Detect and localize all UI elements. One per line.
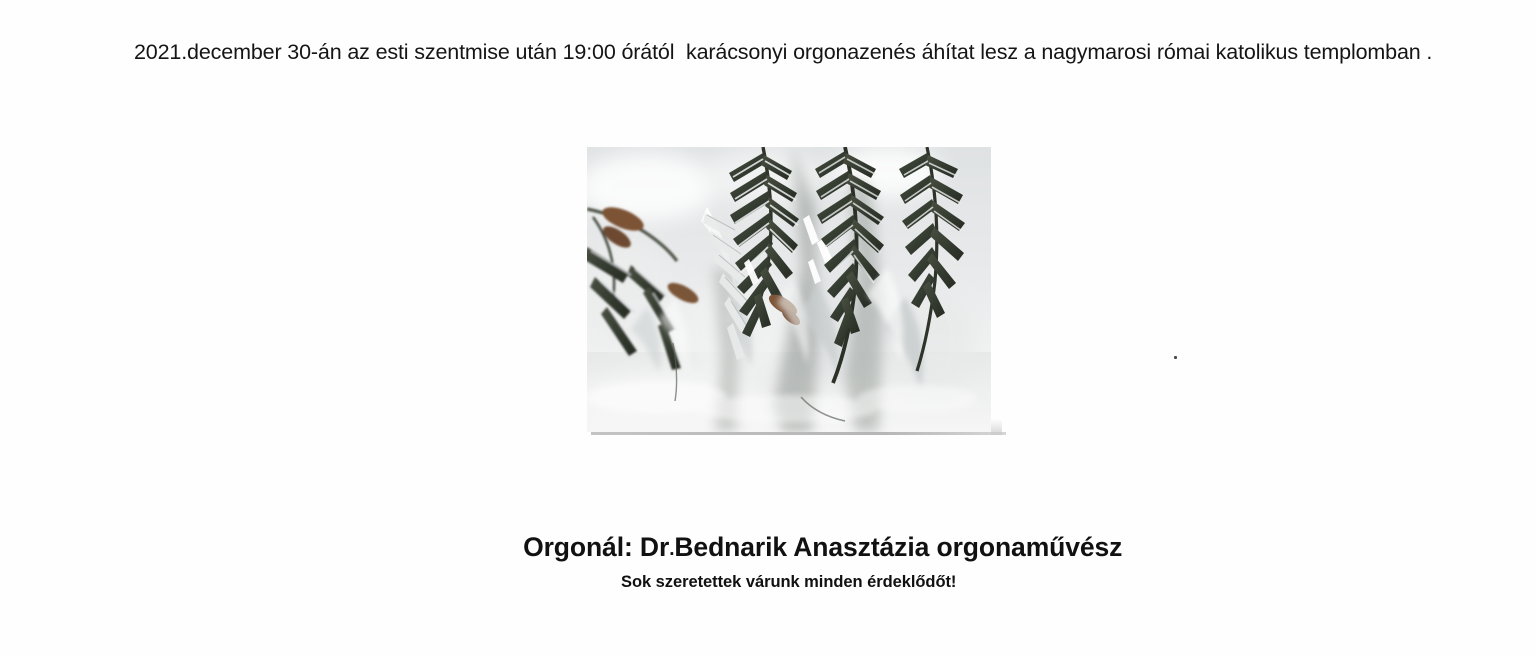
photo-figure [587, 147, 991, 432]
organist-credit-prefix: Orgonál: Dr [523, 532, 669, 562]
stray-dot-artifact [1174, 356, 1177, 359]
photo-drop-shadow [591, 432, 1006, 435]
organist-credit-name: Bednarik Anasztázia orgonaművész [674, 532, 1122, 562]
document-page: 2021.december 30-án az esti szentmise ut… [0, 0, 1536, 657]
announcement-headline: 2021.december 30-án az esti szentmise ut… [134, 38, 1504, 66]
photo-drop-shadow-right [991, 419, 1002, 435]
closing-invitation: Sok szeretettek várunk minden érdeklődőt… [621, 571, 956, 593]
winter-spruce-photo [587, 147, 991, 432]
